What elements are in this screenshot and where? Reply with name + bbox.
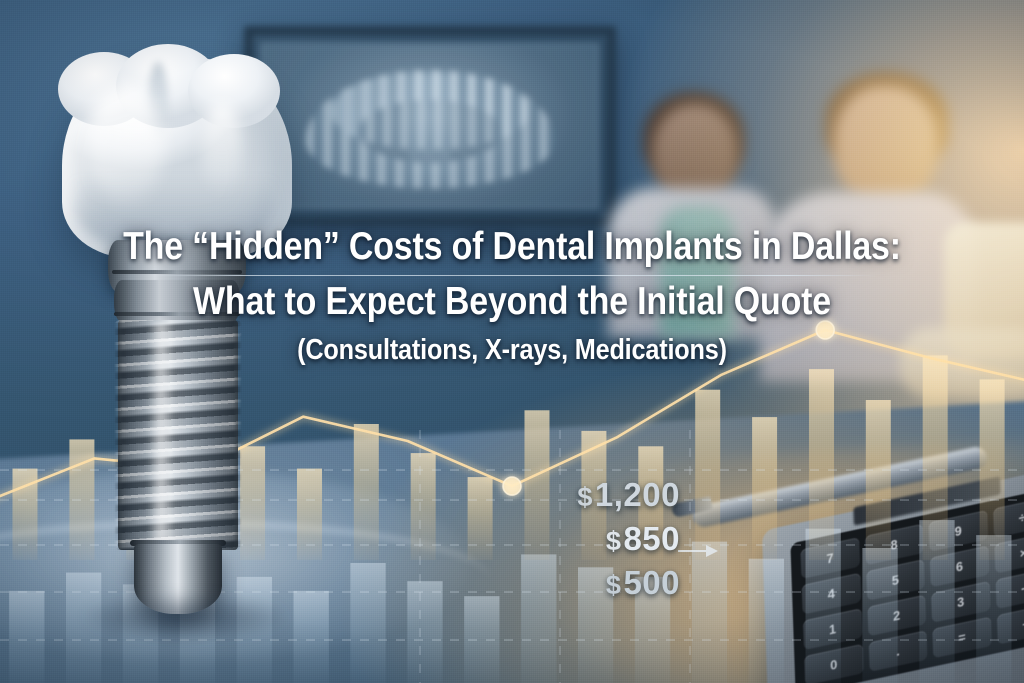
price-label-group: $1,200 $850 $500	[560, 474, 680, 606]
implant-contact-shadow	[86, 594, 286, 640]
hero-banner: 7 8 9 ÷ 4 5 6 × 1 2 3 − 0 . = +	[0, 0, 1024, 683]
currency-symbol: $	[606, 570, 622, 600]
headline-line-1: The “Hidden” Costs of Dental Implants in…	[67, 222, 958, 272]
price-label: $1,200	[560, 474, 680, 518]
headline-block: The “Hidden” Costs of Dental Implants in…	[0, 222, 1024, 372]
price-label: $850	[560, 518, 680, 562]
headline-line-2: What to Expect Beyond the Initial Quote	[67, 276, 958, 328]
price-amount: 1,200	[595, 476, 680, 513]
headline-subtitle: (Consultations, X-rays, Medications)	[67, 328, 958, 372]
price-label: $500	[560, 562, 680, 606]
currency-symbol: $	[606, 526, 622, 556]
price-amount: 500	[623, 564, 680, 601]
currency-symbol: $	[577, 482, 593, 512]
price-amount: 850	[623, 520, 680, 557]
